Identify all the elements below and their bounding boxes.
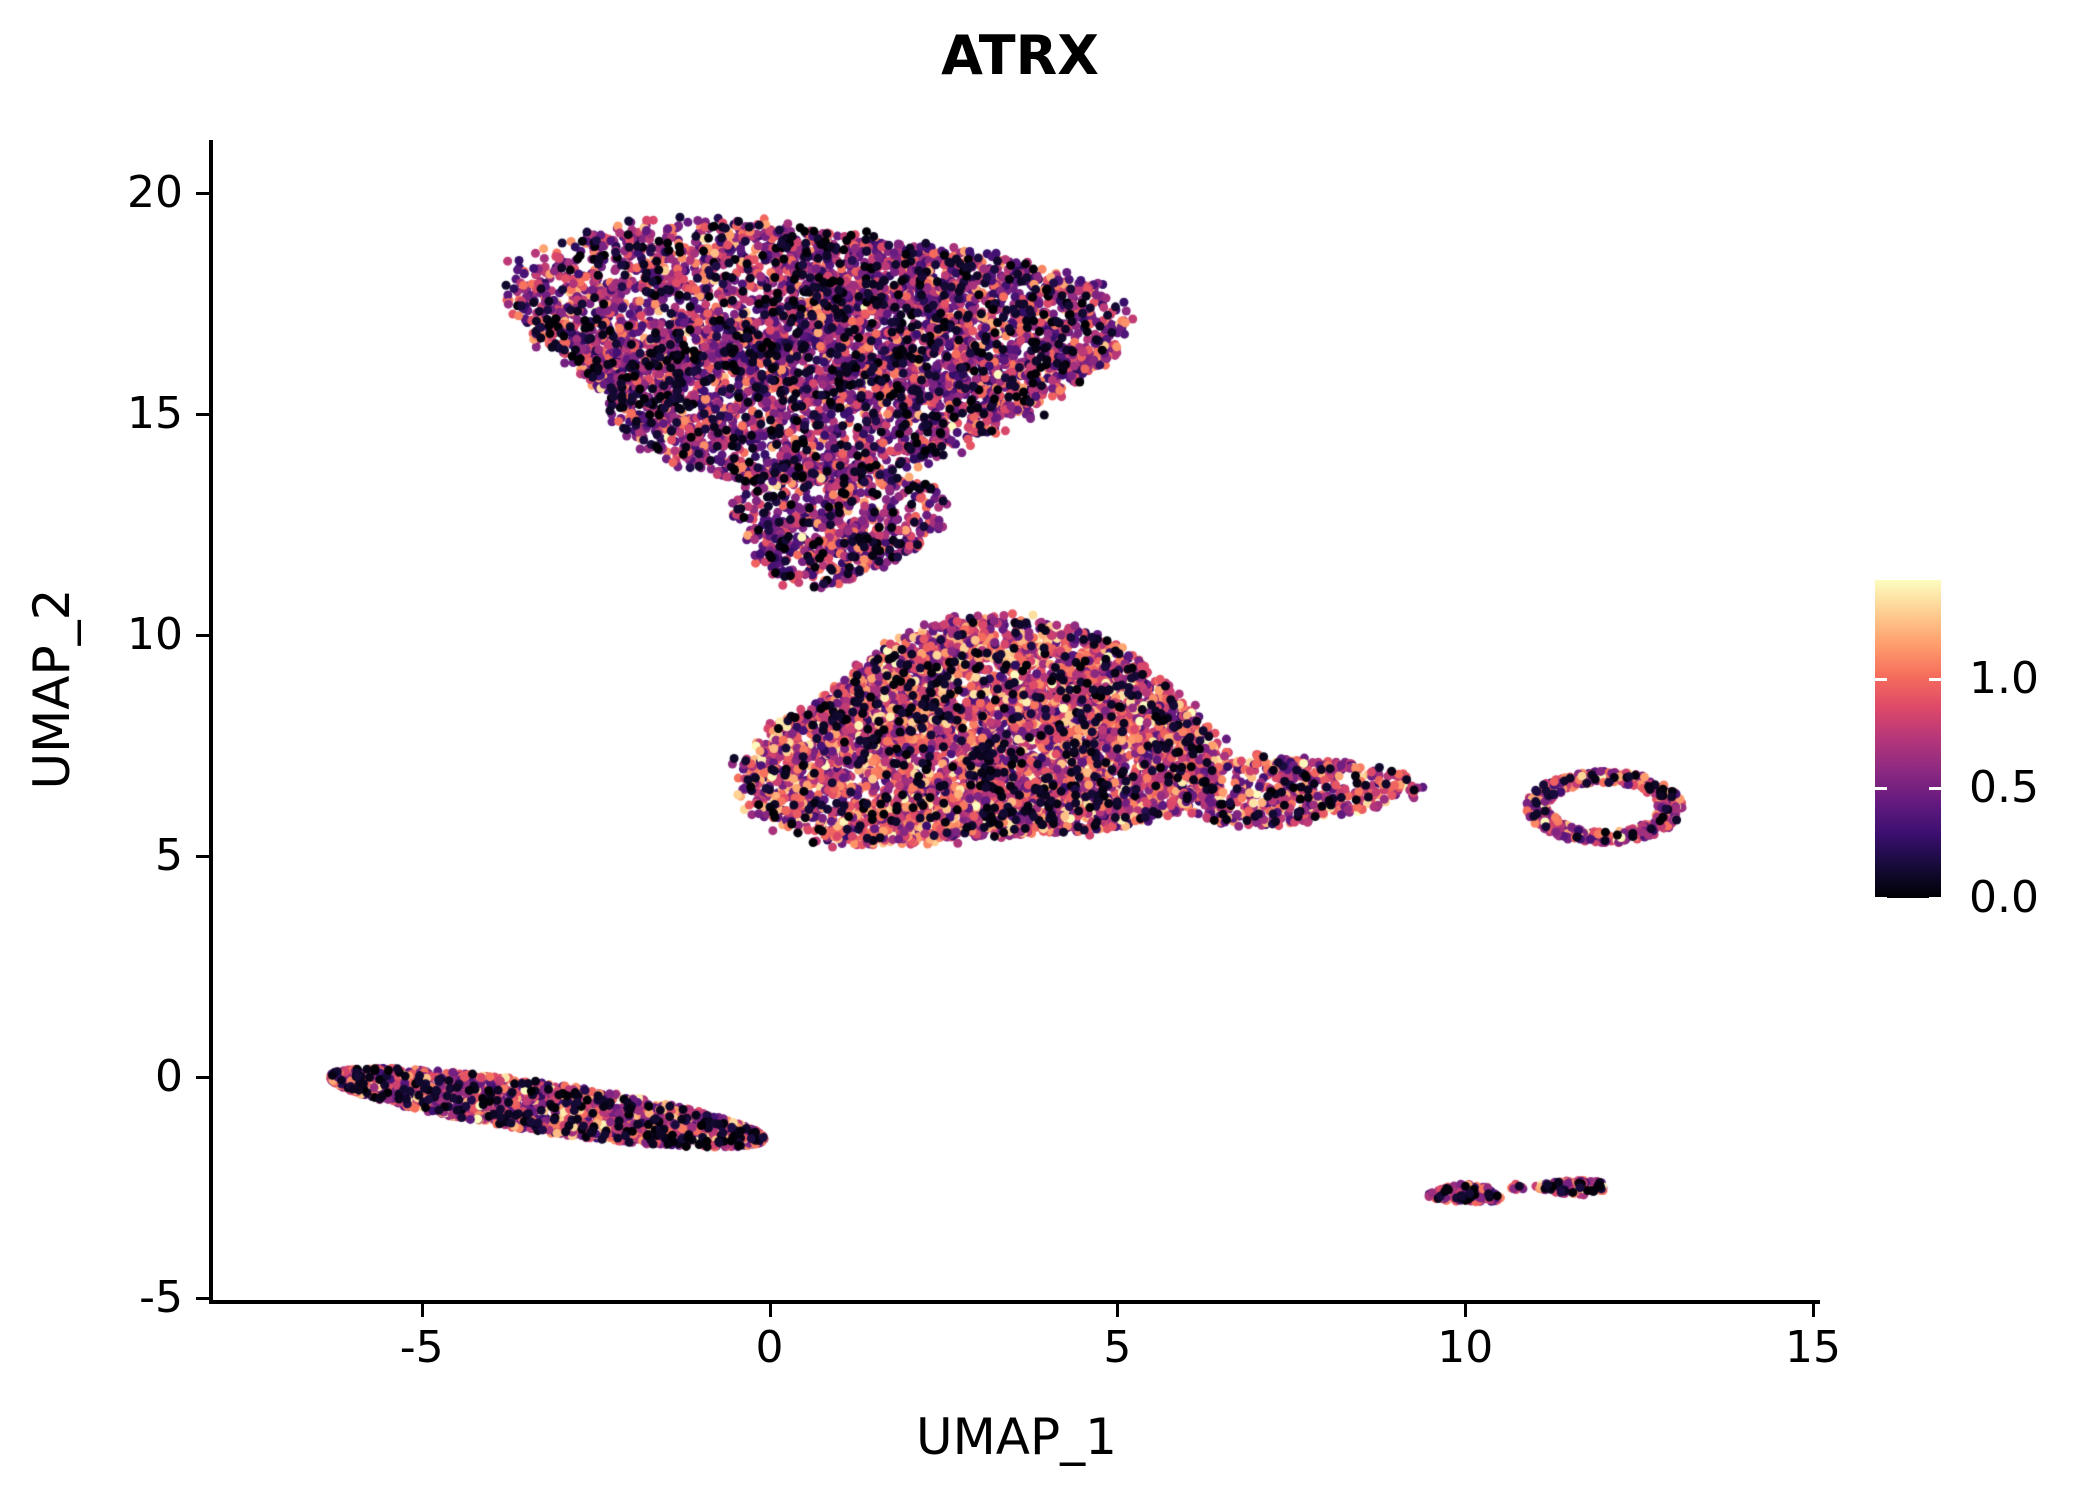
x-axis-spine [209, 1300, 1820, 1304]
y-axis-label: UMAP_2 [23, 309, 81, 1069]
y-tick-mark [196, 634, 209, 637]
colorbar-tick-mark [1929, 897, 1941, 900]
y-axis-spine [209, 140, 213, 1304]
x-tick-mark [1464, 1304, 1467, 1317]
colorbar-tick-mark [1929, 787, 1941, 790]
colorbar-gradient [1875, 580, 1941, 898]
scatter-canvas [213, 140, 1820, 1300]
x-tick-mark [1116, 1304, 1119, 1317]
y-tick-label: -5 [9, 1272, 183, 1324]
colorbar-tick-label: 1.0 [1969, 653, 2039, 705]
x-tick-label: 5 [1037, 1322, 1197, 1374]
y-tick-mark [196, 413, 209, 416]
x-tick-label: -5 [342, 1322, 502, 1374]
colorbar-tick-label: 0.5 [1969, 762, 2039, 814]
x-tick-mark [421, 1304, 424, 1317]
colorbar-tick-mark [1875, 678, 1887, 681]
x-axis-label: UMAP_1 [213, 1408, 1820, 1466]
page-title: ATRX [0, 24, 2040, 87]
y-tick-label: 20 [9, 167, 183, 219]
y-tick-mark [196, 1076, 209, 1079]
colorbar-tick-label: 0.0 [1969, 872, 2039, 924]
x-tick-label: 15 [1733, 1322, 1893, 1374]
colorbar-tick-mark [1929, 678, 1941, 681]
x-tick-mark [1812, 1304, 1815, 1317]
x-tick-label: 10 [1385, 1322, 1545, 1374]
umap-feature-plot: ATRX -5051015 -505101520 UMAP_1 UMAP_2 0… [0, 0, 2100, 1500]
plot-axes: -5051015 -505101520 [213, 140, 1820, 1300]
x-tick-label: 0 [690, 1322, 850, 1374]
y-tick-mark [196, 192, 209, 195]
colorbar-tick-mark [1875, 787, 1887, 790]
y-tick-mark [196, 855, 209, 858]
y-tick-mark [196, 1297, 209, 1300]
colorbar-tick-mark [1875, 897, 1887, 900]
x-tick-mark [769, 1304, 772, 1317]
